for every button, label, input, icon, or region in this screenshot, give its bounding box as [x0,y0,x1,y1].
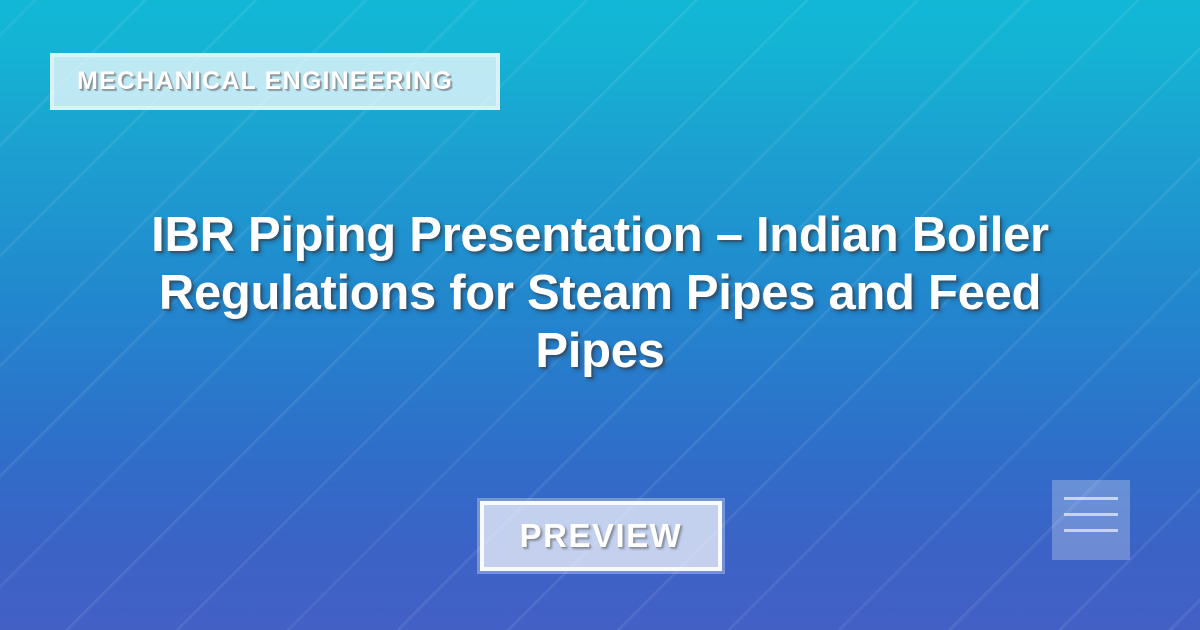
preview-button-label: PREVIEW [520,517,683,555]
category-badge: MECHANICAL ENGINEERING [50,53,500,110]
document-line-1 [1064,497,1118,500]
presentation-preview-card: MECHANICAL ENGINEERING IBR Piping Presen… [0,0,1200,630]
preview-button[interactable]: PREVIEW [480,501,722,571]
title-block: IBR Piping Presentation – Indian Boiler … [0,206,1200,380]
category-badge-label: MECHANICAL ENGINEERING [77,67,453,96]
document-line-3 [1064,529,1118,532]
document-lines-icon [1052,480,1130,560]
document-line-2 [1064,513,1118,516]
page-title: IBR Piping Presentation – Indian Boiler … [150,206,1050,380]
